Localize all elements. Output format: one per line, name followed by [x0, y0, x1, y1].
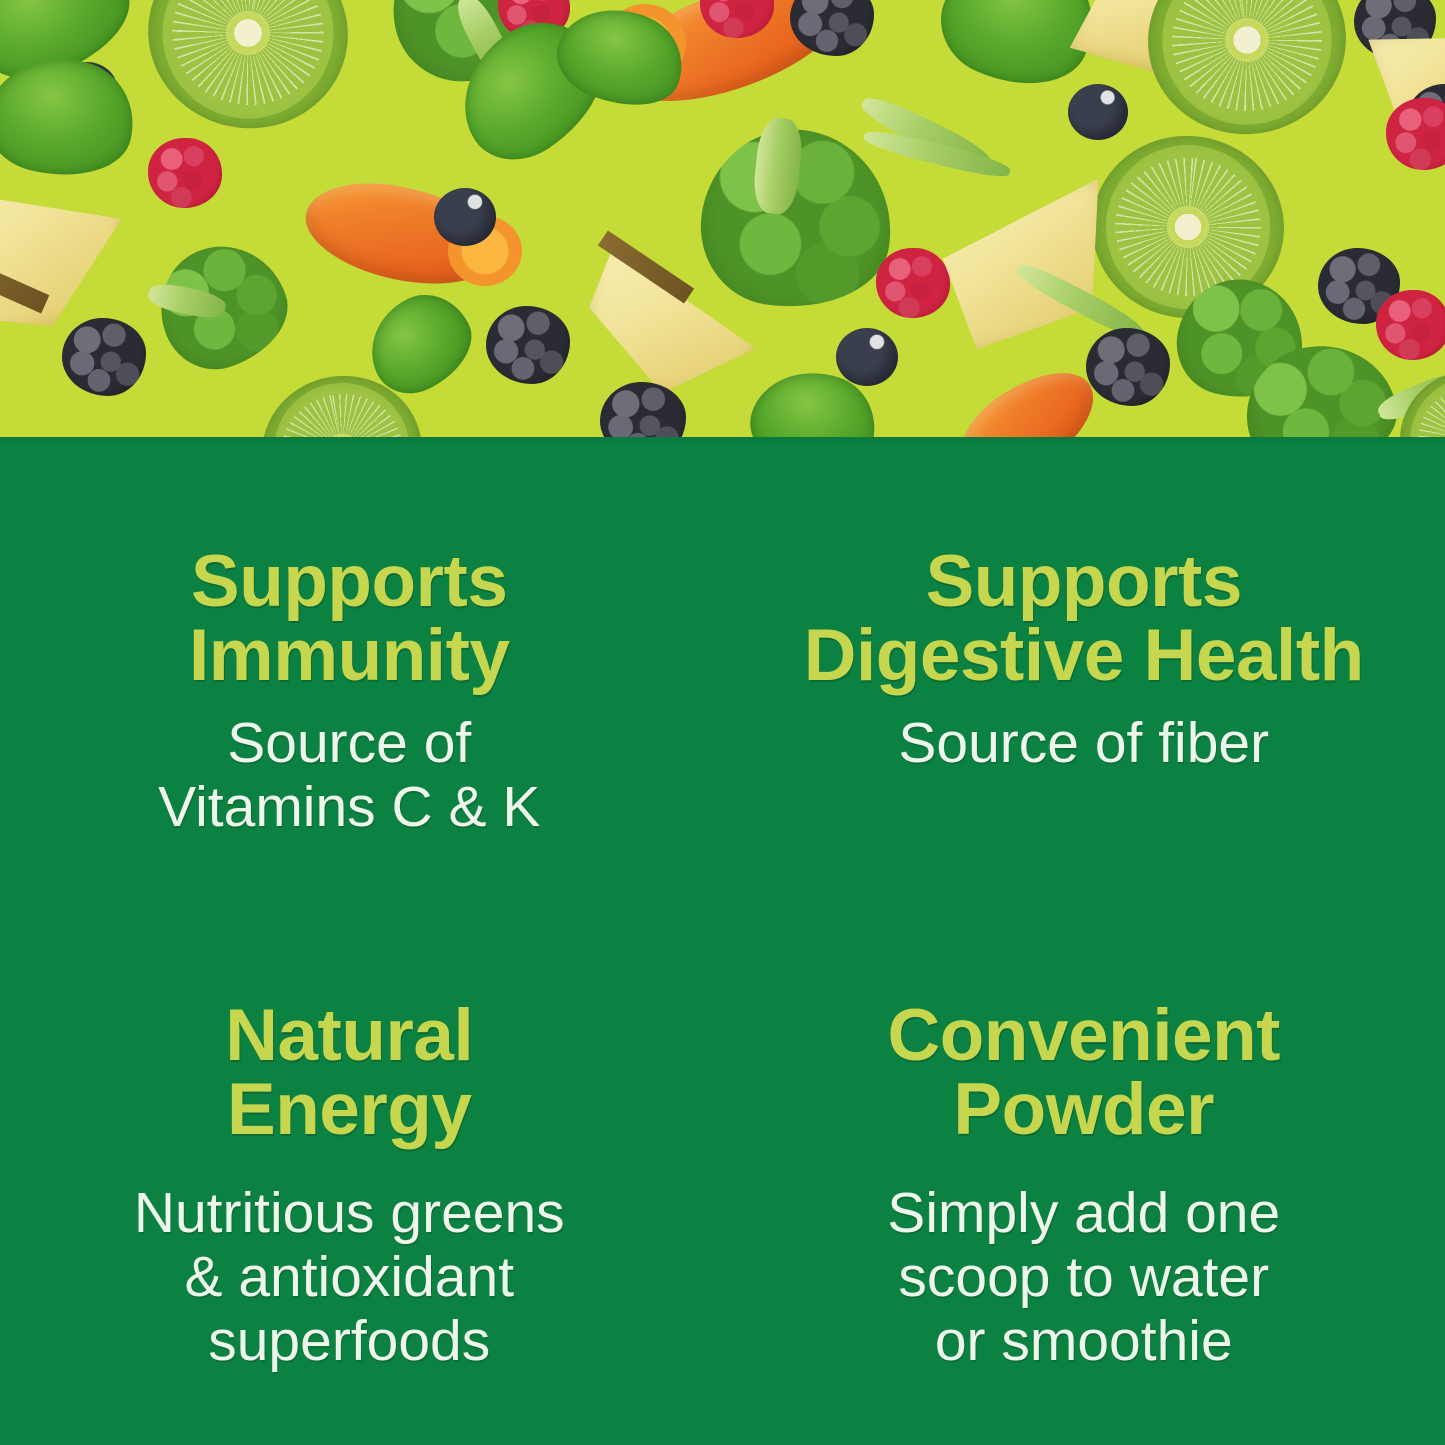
raspberry-icon [148, 138, 222, 208]
blueberry-icon [56, 62, 118, 120]
kiwi-slice-icon [1136, 0, 1358, 147]
carrot-icon [603, 0, 861, 126]
raspberry-icon [876, 248, 950, 318]
broccoli-stem-icon [1013, 258, 1147, 343]
benefit-subline-line-1: Simply add one [887, 1181, 1280, 1245]
benefit-subline-line-1: Nutritious greens [134, 1181, 565, 1245]
benefit-card-supports-digestive-health: Supports Digestive Health Source of fibe… [723, 437, 1445, 941]
spinach-leaf-icon [0, 42, 146, 192]
pineapple-wedge-icon [1070, 0, 1227, 84]
broccoli-stem-icon [1374, 368, 1445, 426]
benefit-headline-line-1: Supports [926, 541, 1242, 622]
broccoli-floret-icon [1238, 336, 1404, 437]
spinach-leaf-icon [436, 0, 626, 180]
pineapple-rind-icon [0, 250, 49, 313]
broccoli-stem-icon [146, 280, 228, 322]
benefit-headline: Natural Energy [225, 999, 473, 1148]
blueberry-icon [1068, 84, 1128, 140]
benefit-headline: Supports Digestive Health [804, 545, 1364, 694]
broccoli-floret-icon [691, 118, 904, 321]
raspberry-icon [700, 0, 774, 38]
benefit-subline: Simply add one scoop to water or smoothi… [887, 1182, 1280, 1373]
benefit-headline: Convenient Powder [888, 999, 1280, 1148]
blackberry-icon [486, 306, 570, 384]
benefit-headline: Supports Immunity [189, 545, 509, 694]
raspberry-icon [498, 0, 570, 40]
blackberry-icon [600, 382, 686, 437]
kiwi-slice-icon [1083, 126, 1293, 327]
benefit-subline-line-1: Source of [227, 711, 471, 775]
pineapple-rind-icon [598, 230, 694, 303]
benefit-headline-line-2: Powder [953, 1069, 1214, 1150]
benefit-subline-line-2: scoop to water [898, 1245, 1269, 1309]
benefits-grid: Supports Immunity Source of Vitamins C &… [0, 437, 1445, 1445]
broccoli-floret-icon [1166, 267, 1317, 412]
blackberry-icon [1406, 84, 1445, 158]
benefit-subline-line-3: or smoothie [935, 1309, 1233, 1373]
spinach-leaf-icon [740, 355, 889, 437]
spinach-leaf-icon [0, 0, 145, 94]
blackberry-icon [1086, 328, 1170, 406]
kiwi-slice-icon [250, 363, 434, 437]
benefit-card-natural-energy: Natural Energy Nutritious greens & antio… [0, 941, 723, 1445]
pineapple-wedge-icon [581, 242, 765, 403]
blackberry-icon [1354, 0, 1436, 60]
pineapple-wedge-icon [1368, 15, 1445, 144]
blueberry-icon [434, 188, 496, 246]
benefit-subline-line-2: & antioxidant [184, 1245, 514, 1309]
spinach-leaf-icon [354, 280, 487, 406]
blueberry-icon [836, 328, 898, 386]
blackberry-icon [62, 318, 146, 396]
benefit-card-supports-immunity: Supports Immunity Source of Vitamins C &… [0, 437, 723, 941]
pineapple-wedge-icon [924, 178, 1119, 353]
benefit-card-convenient-powder: Convenient Powder Simply add one scoop t… [723, 941, 1445, 1445]
blackberry-icon [1318, 248, 1400, 324]
broccoli-floret-icon [378, 0, 575, 94]
benefit-headline-line-2: Digestive Health [804, 615, 1364, 696]
benefit-headline-line-2: Energy [227, 1069, 471, 1150]
benefit-headline-line-2: Immunity [189, 615, 509, 696]
broccoli-floret-icon [145, 229, 302, 382]
carrot-cut-end-icon [604, 4, 686, 82]
broccoli-stem-icon [862, 126, 1012, 182]
benefit-subline-line-3: superfoods [208, 1309, 490, 1373]
spinach-leaf-icon [924, 0, 1114, 109]
benefit-subline-line-2: Vitamins C & K [158, 775, 540, 839]
blackberry-icon [790, 0, 874, 56]
broccoli-stem-icon [451, 0, 520, 84]
fruits-and-vegetables-photo-band [0, 0, 1445, 437]
broccoli-stem-icon [751, 116, 805, 216]
raspberry-icon [1376, 290, 1445, 360]
carrot-icon [297, 168, 510, 299]
carrot-icon [942, 351, 1111, 437]
benefits-panel: Supports Immunity Source of Vitamins C &… [0, 437, 1445, 1445]
benefit-headline-line-1: Natural [225, 995, 473, 1076]
benefit-subline: Source of fiber [898, 712, 1269, 776]
benefit-headline-line-1: Convenient [888, 995, 1280, 1076]
spinach-leaf-icon [545, 0, 697, 124]
benefit-headline-line-1: Supports [191, 541, 507, 622]
pineapple-wedge-icon [0, 159, 132, 338]
kiwi-slice-icon [130, 0, 365, 147]
carrot-cut-end-icon [448, 216, 522, 286]
benefit-subline-line-1: Source of fiber [898, 711, 1269, 775]
benefit-subline: Source of Vitamins C & K [158, 712, 540, 840]
broccoli-stem-icon [857, 91, 994, 176]
raspberry-icon [1386, 98, 1445, 170]
kiwi-slice-icon [1400, 370, 1445, 437]
benefit-subline: Nutritious greens & antioxidant superfoo… [134, 1182, 565, 1373]
product-benefits-infographic: Supports Immunity Source of Vitamins C &… [0, 0, 1445, 1445]
